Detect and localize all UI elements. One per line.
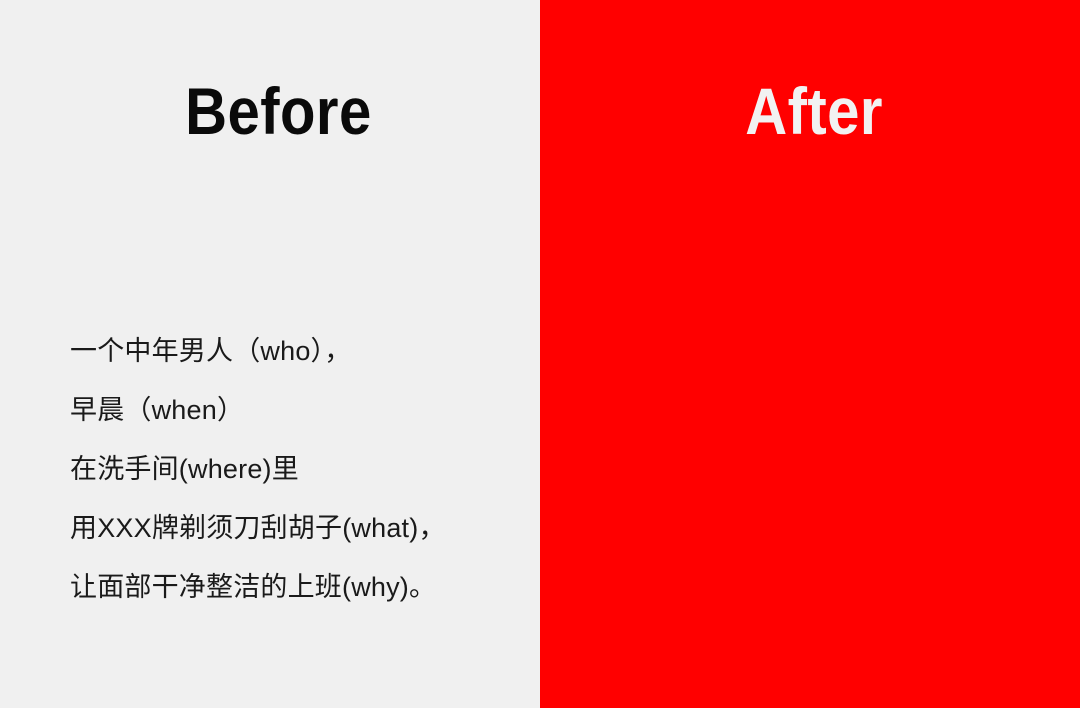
before-panel: Before 一个中年男人（who）， 早晨（when） 在洗手间(where)… [0, 0, 540, 708]
before-line-when: 早晨（when） [70, 381, 446, 440]
before-line-why: 让面部干净整洁的上班(why)。 [70, 558, 446, 617]
before-after-comparison: Before 一个中年男人（who）， 早晨（when） 在洗手间(where)… [0, 0, 1080, 708]
before-line-who: 一个中年男人（who）， [70, 322, 446, 381]
before-line-what: 用XXX牌剃须刀刮胡子(what)， [70, 499, 446, 558]
after-title: After [576, 78, 1080, 144]
after-panel: After 一个中年男人（who）， 早晨（when） 在太空飞船(where)… [540, 0, 1080, 708]
before-line-where: 在洗手间(where)里 [70, 440, 446, 499]
before-text-block: 一个中年男人（who）， 早晨（when） 在洗手间(where)里 用XXX牌… [70, 322, 446, 617]
